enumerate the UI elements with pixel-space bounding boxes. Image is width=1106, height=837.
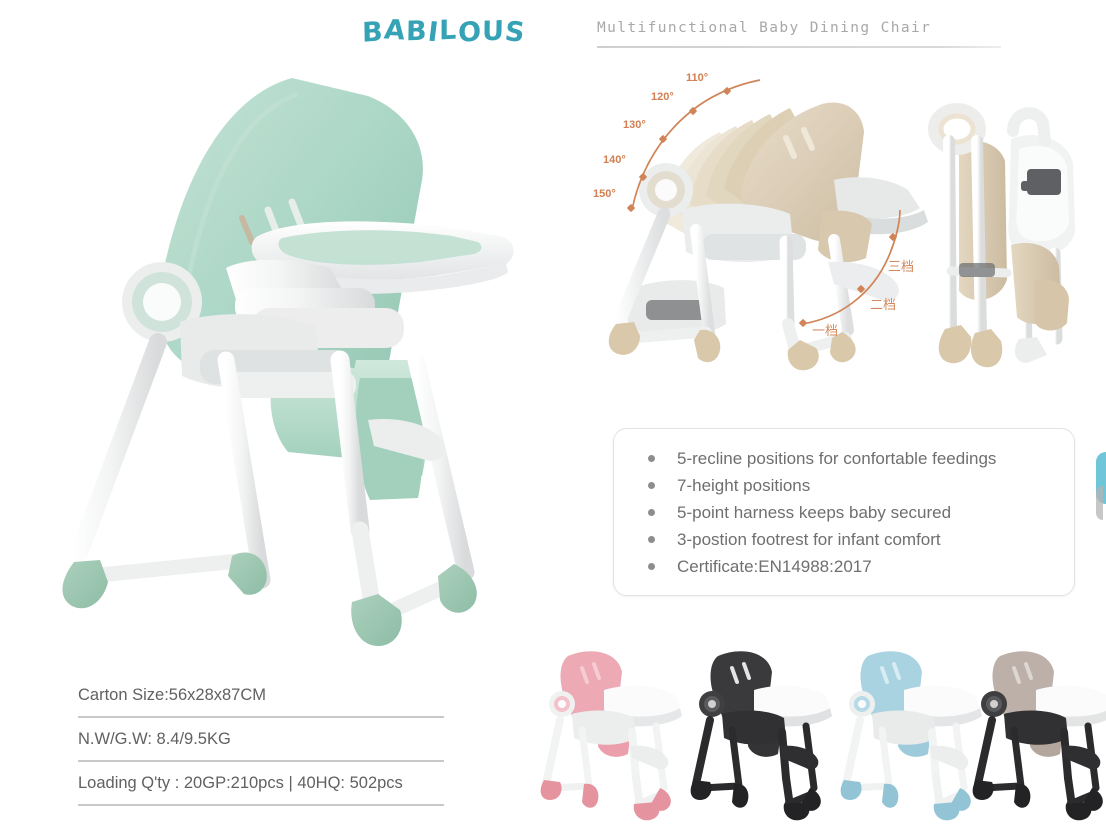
spec-divider xyxy=(78,804,444,806)
feature-item: 3-postion footrest for infant comfort xyxy=(614,526,1074,553)
spec-divider xyxy=(78,716,444,718)
feature-text: 3-postion footrest for infant comfort xyxy=(677,530,941,550)
color-variant-row xyxy=(520,638,1106,828)
recline-positions-figure: 110° 120° 130° 140° 150° 三档 二档 一档 xyxy=(590,62,930,392)
logo-letter: L xyxy=(439,15,457,47)
logo-letter: O xyxy=(457,16,482,49)
angle-label-120: 120° xyxy=(651,91,674,103)
angle-label-150: 150° xyxy=(593,188,616,200)
spec-weight: N.W/G.W: 8.4/9.5KG xyxy=(78,730,444,760)
angle-label-110: 110° xyxy=(686,72,708,84)
feature-item: 5-point harness keeps baby secured xyxy=(614,499,1074,526)
feature-text: 5-point harness keeps baby secured xyxy=(677,503,951,523)
bullet-icon xyxy=(648,536,655,543)
spec-loading-qty: Loading Q'ty : 20GP:210pcs | 40HQ: 502pc… xyxy=(78,774,444,804)
specification-list: Carton Size:56x28x87CM N.W/G.W: 8.4/9.5K… xyxy=(78,686,444,818)
spec-divider xyxy=(78,760,444,762)
feature-item: 5-recline positions for confortable feed… xyxy=(614,445,1074,472)
feature-text: 7-height positions xyxy=(677,476,810,496)
section-title: Multifunctional Baby Dining Chair xyxy=(597,20,1017,36)
variant-chair-black[interactable] xyxy=(688,638,838,828)
footrest-gear-label-1: 一档 xyxy=(812,320,838,339)
section-title-divider xyxy=(597,46,1001,48)
bullet-icon xyxy=(648,509,655,516)
angle-label-130: 130° xyxy=(623,119,646,131)
feature-text: Certificate:EN14988:2017 xyxy=(677,557,872,577)
logo-letter: A xyxy=(383,14,408,46)
variant-chair-pink[interactable] xyxy=(538,638,688,828)
logo-letter: U xyxy=(482,16,506,48)
variant-chair-blue[interactable] xyxy=(838,638,988,828)
feature-text: 5-recline positions for confortable feed… xyxy=(677,449,996,469)
feature-item: 7-height positions xyxy=(614,472,1074,499)
footrest-gear-label-2: 二档 xyxy=(870,294,896,313)
bullet-icon xyxy=(648,455,655,462)
footrest-gear-label-3: 三档 xyxy=(888,256,914,275)
spec-carton-size: Carton Size:56x28x87CM xyxy=(78,686,444,716)
logo-letter: B xyxy=(406,16,428,48)
variant-chair-beige[interactable] xyxy=(970,638,1106,828)
bullet-icon xyxy=(648,563,655,570)
feature-item: Certificate:EN14988:2017 xyxy=(614,553,1074,580)
brand-logo: BABILOUS xyxy=(343,16,545,50)
logo-letter: S xyxy=(503,16,527,48)
bullet-icon xyxy=(648,482,655,489)
angle-label-140: 140° xyxy=(603,154,626,166)
folded-chair-figure xyxy=(915,95,1105,395)
logo-letter: B xyxy=(362,16,384,48)
hero-product-image xyxy=(30,60,520,660)
feature-list-card: 5-recline positions for confortable feed… xyxy=(613,428,1075,596)
edge-accent-shadow xyxy=(1096,486,1103,520)
